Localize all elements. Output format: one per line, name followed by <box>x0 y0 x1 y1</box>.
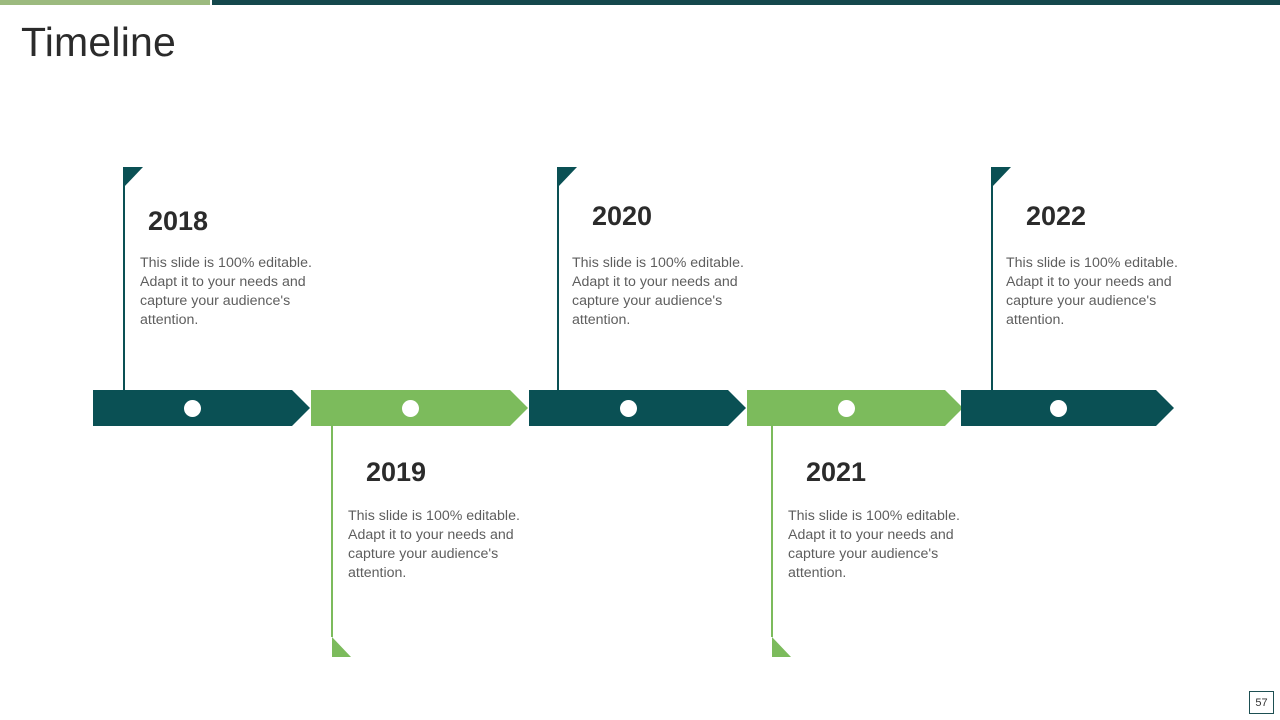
arrow-shape <box>529 390 746 426</box>
timeline-arrow-segment-1[interactable] <box>93 390 310 426</box>
milestone-connector-line <box>123 167 125 391</box>
milestone-connector-line <box>771 425 773 637</box>
milestone-flag-icon <box>558 167 577 187</box>
milestone-year-2019: 2019 <box>366 456 426 488</box>
milestone-description-text: This slide is 100% editable. Adapt it to… <box>788 507 968 583</box>
milestone-year-label: 2020 <box>592 200 652 232</box>
timeline-diagram: 2018This slide is 100% editable. Adapt i… <box>0 0 1280 720</box>
milestone-flag-icon <box>992 167 1011 187</box>
milestone-flag-icon <box>772 637 791 657</box>
arrow-milestone-dot <box>184 400 201 417</box>
milestone-flag-icon <box>124 167 143 187</box>
milestone-description-2019: This slide is 100% editable. Adapt it to… <box>348 507 528 583</box>
arrow-shape <box>311 390 528 426</box>
arrow-milestone-dot <box>402 400 419 417</box>
milestone-description-2022: This slide is 100% editable. Adapt it to… <box>1006 254 1186 330</box>
milestone-year-label: 2022 <box>1026 200 1086 232</box>
arrow-milestone-dot <box>620 400 637 417</box>
milestone-year-label: 2019 <box>366 456 426 488</box>
milestone-description-2020: This slide is 100% editable. Adapt it to… <box>572 254 752 330</box>
milestone-description-2018: This slide is 100% editable. Adapt it to… <box>140 254 320 330</box>
arrow-shape <box>961 390 1174 426</box>
milestone-description-2021: This slide is 100% editable. Adapt it to… <box>788 507 968 583</box>
milestone-year-2022: 2022 <box>1026 200 1086 232</box>
milestone-description-text: This slide is 100% editable. Adapt it to… <box>348 507 528 583</box>
milestone-flag-icon <box>332 637 351 657</box>
milestone-year-2018: 2018 <box>148 205 208 237</box>
arrow-shape <box>93 390 310 426</box>
milestone-year-2021: 2021 <box>806 456 866 488</box>
page-number-badge: 57 <box>1249 691 1274 714</box>
milestone-connector-line <box>991 167 993 391</box>
milestone-connector-line <box>331 425 333 637</box>
milestone-year-label: 2021 <box>806 456 866 488</box>
milestone-year-2020: 2020 <box>592 200 652 232</box>
arrow-milestone-dot <box>1050 400 1067 417</box>
timeline-arrow-segment-5[interactable] <box>961 390 1174 426</box>
timeline-arrow-segment-3[interactable] <box>529 390 746 426</box>
milestone-description-text: This slide is 100% editable. Adapt it to… <box>1006 254 1186 330</box>
milestone-connector-line <box>557 167 559 391</box>
timeline-arrow-segment-4[interactable] <box>747 390 963 426</box>
arrow-milestone-dot <box>838 400 855 417</box>
timeline-arrow-segment-2[interactable] <box>311 390 528 426</box>
milestone-year-label: 2018 <box>148 205 208 237</box>
milestone-description-text: This slide is 100% editable. Adapt it to… <box>572 254 752 330</box>
arrow-shape <box>747 390 963 426</box>
milestone-description-text: This slide is 100% editable. Adapt it to… <box>140 254 320 330</box>
